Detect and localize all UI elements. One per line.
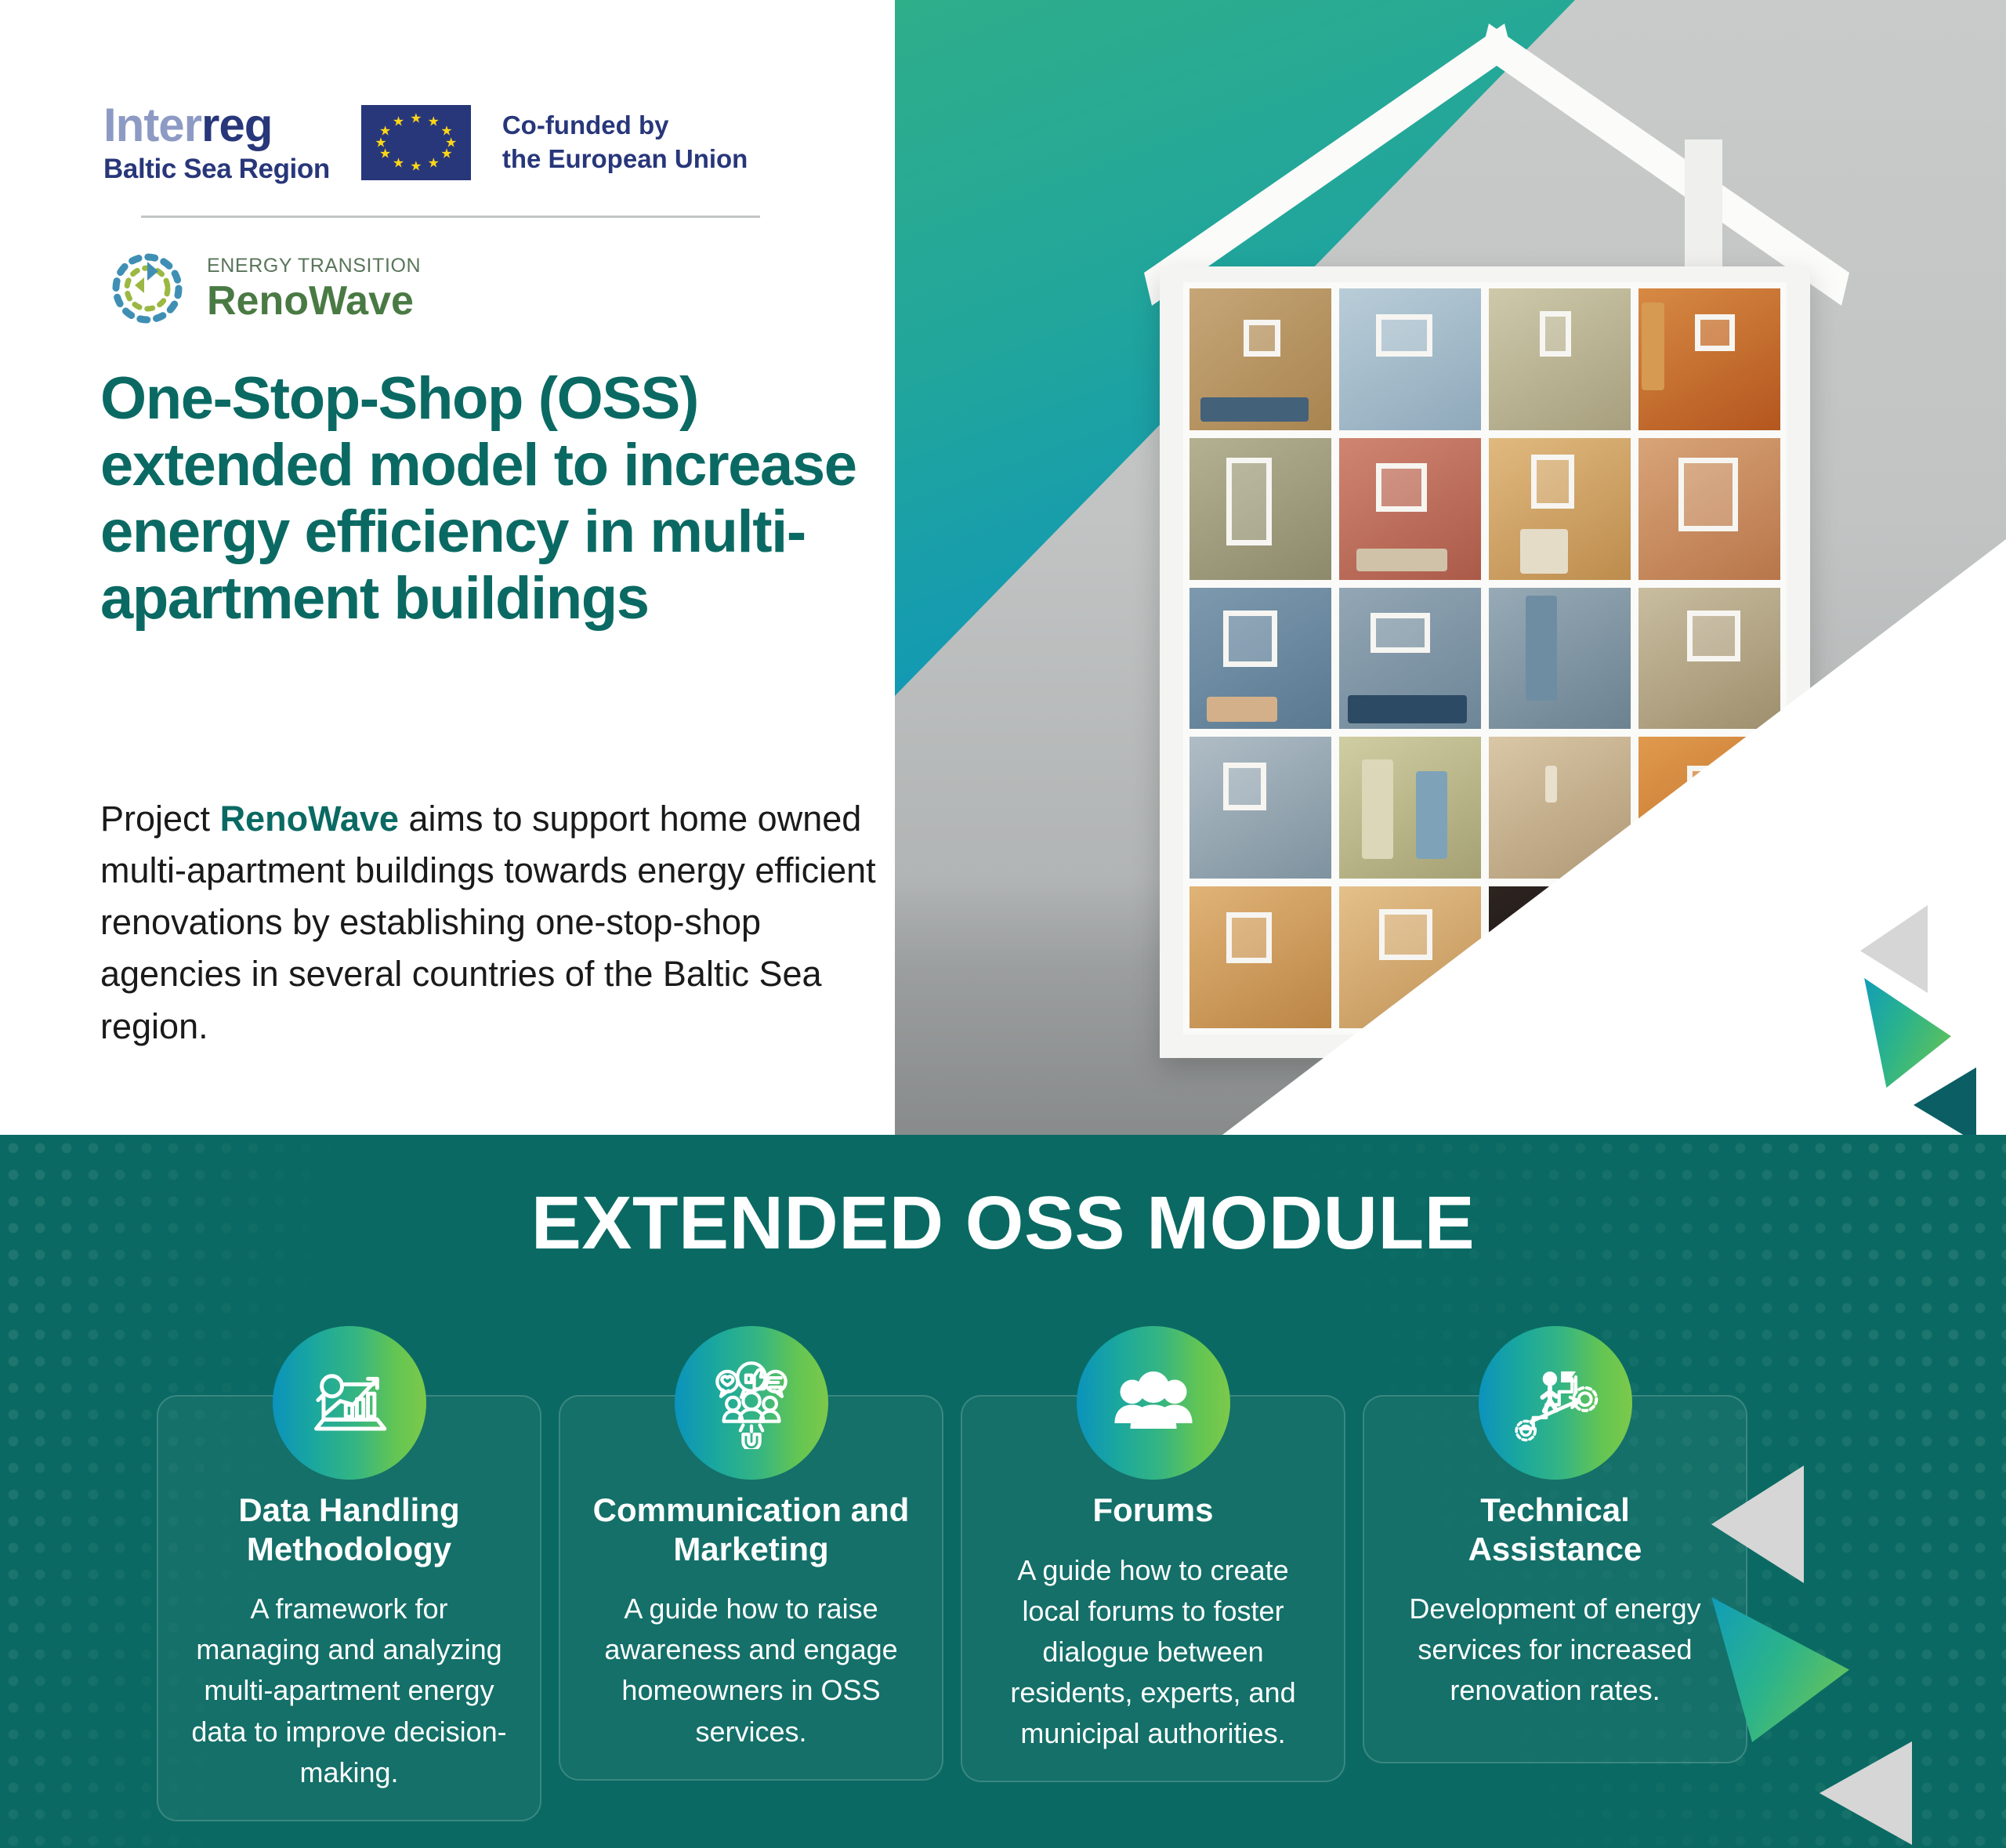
module-card-title: Forums (989, 1491, 1317, 1530)
progress-gears-icon (1479, 1326, 1632, 1480)
apartment-room (1339, 737, 1481, 879)
data-analysis-icon (273, 1326, 426, 1480)
logo-divider (141, 216, 760, 218)
apartment-room (1489, 438, 1631, 580)
renowave-kicker: ENERGY TRANSITION (207, 256, 421, 276)
module-card-forums[interactable]: Forums A guide how to create local forum… (961, 1395, 1345, 1782)
module-card-list: Data Handling Methodology A framework fo… (157, 1395, 1747, 1821)
eu-funding-line1: Co-funded by (502, 109, 748, 142)
module-card-description: Development of energy services for incre… (1391, 1589, 1719, 1712)
apartment-room (1189, 737, 1331, 879)
intro-paragraph: Project RenoWave aims to support home ow… (100, 793, 884, 1053)
apartment-room (1339, 288, 1481, 430)
extended-oss-module-section: EXTENDED OSS MODULE (0, 1135, 2006, 1848)
apartment-room (1489, 588, 1631, 730)
module-card-technical-assistance[interactable]: Technical Assistance Development of ener… (1363, 1395, 1747, 1763)
renowave-mark-icon (103, 245, 191, 332)
renowave-name: RenoWave (207, 281, 421, 321)
logo-block: Interreg Baltic Sea Region ★ ★ ★ ★ ★ ★ ★… (103, 102, 762, 332)
section-heading: EXTENDED OSS MODULE (0, 1180, 2006, 1266)
apartment-room (1189, 588, 1331, 730)
interreg-logo: Interreg Baltic Sea Region (103, 102, 330, 183)
apartment-room (1638, 288, 1780, 430)
chimney (1685, 140, 1722, 281)
module-card-data-handling[interactable]: Data Handling Methodology A framework fo… (157, 1395, 541, 1821)
module-card-communication[interactable]: Communication and Marketing A guide how … (559, 1395, 943, 1781)
module-card-title: Technical Assistance (1391, 1491, 1719, 1568)
hero-section: Interreg Baltic Sea Region ★ ★ ★ ★ ★ ★ ★… (0, 0, 2006, 1135)
interreg-word-dark: reg (201, 99, 272, 151)
engagement-magnet-icon (675, 1326, 828, 1480)
eu-funding-text: Co-funded by the European Union (502, 109, 748, 175)
module-card-description: A guide how to create local forums to fo… (989, 1550, 1317, 1755)
module-card-description: A framework for managing and analyzing m… (185, 1589, 513, 1793)
eu-flag-icon: ★ ★ ★ ★ ★ ★ ★ ★ ★ ★ ★ ★ (361, 105, 471, 180)
interreg-subtitle: Baltic Sea Region (103, 155, 330, 183)
roof-left (1144, 24, 1512, 306)
intro-before: Project (100, 799, 220, 839)
interreg-word-light: Inter (103, 99, 201, 151)
module-card-description: A guide how to raise awareness and engag… (587, 1589, 915, 1752)
apartment-room (1489, 288, 1631, 430)
roof-right (1481, 24, 1849, 306)
apartment-room (1189, 438, 1331, 580)
left-content-panel: Interreg Baltic Sea Region ★ ★ ★ ★ ★ ★ ★… (0, 0, 895, 1135)
module-card-title: Communication and Marketing (587, 1491, 915, 1568)
apartment-room (1638, 588, 1780, 730)
page-title: One-Stop-Shop (OSS) extended model to in… (100, 365, 892, 632)
eu-funding-line2: the European Union (502, 143, 748, 176)
apartment-room (1638, 438, 1780, 580)
apartment-room (1189, 288, 1331, 430)
apartment-room (1189, 886, 1331, 1028)
renowave-logo: ENERGY TRANSITION RenoWave (207, 256, 421, 321)
intro-brand: RenoWave (220, 799, 399, 839)
hero-image (893, 0, 2006, 1135)
module-card-title: Data Handling Methodology (185, 1491, 513, 1568)
people-group-icon (1077, 1326, 1230, 1480)
infographic-poster: Interreg Baltic Sea Region ★ ★ ★ ★ ★ ★ ★… (0, 0, 2006, 1848)
apartment-room (1339, 588, 1481, 730)
apartment-room (1339, 438, 1481, 580)
